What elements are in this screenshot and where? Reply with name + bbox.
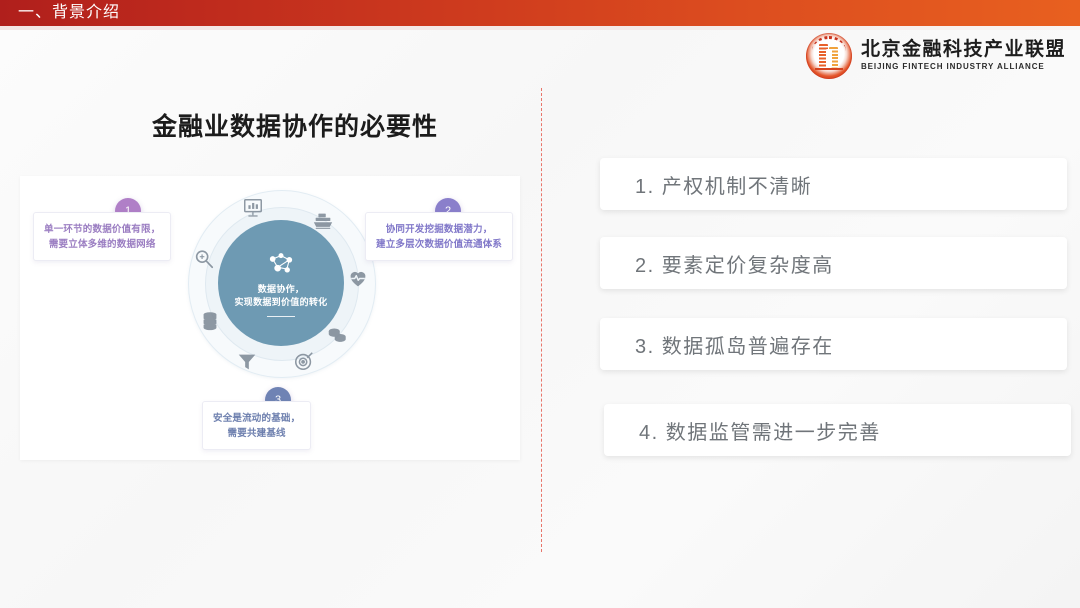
target-icon: [293, 350, 315, 372]
diagram-callout-1-line2: 需要立体多维的数据网络: [44, 237, 160, 252]
diagram-callout-3: 安全是流动的基础， 需要共建基线: [202, 401, 311, 450]
vertical-dashed-divider: [541, 88, 542, 552]
diagram-core-line2: 实现数据到价值的转化: [234, 296, 327, 309]
slide-canvas: 一、背景介绍 北京金融科技产业联盟 BEIJING FINTECH INDUST…: [0, 0, 1080, 608]
diagram-core-line1: 数据协作，: [258, 283, 305, 296]
data-network-icon: [261, 249, 301, 279]
diagram-callout-2-line1: 协同开发挖掘数据潜力，: [386, 224, 493, 235]
issue-card-4-label: 4. 数据监管需进一步完善: [639, 416, 881, 445]
issue-card-4[interactable]: 4. 数据监管需进一步完善: [604, 404, 1071, 456]
brand-name-cn: 北京金融科技产业联盟: [861, 39, 1066, 61]
diagram-core-rule: [267, 316, 295, 318]
alliance-seal-icon: [806, 33, 852, 79]
brand-name-en: BEIJING FINTECH INDUSTRY ALLIANCE: [861, 61, 1066, 73]
search-magnifier-icon: [193, 248, 215, 270]
header-bar: 一、背景介绍: [0, 0, 1080, 26]
diagram-callout-1-line1: 单一环节的数据价值有限，: [44, 224, 160, 235]
issue-card-1[interactable]: 1. 产权机制不清晰: [600, 158, 1067, 210]
ship-icon: [312, 209, 334, 231]
heart-pulse-icon: [347, 267, 369, 289]
funnel-icon: [236, 351, 258, 373]
coins-stack-icon: [326, 323, 348, 345]
issue-card-3[interactable]: 3. 数据孤岛普遍存在: [600, 318, 1067, 370]
brand-logo-text: 北京金融科技产业联盟 BEIJING FINTECH INDUSTRY ALLI…: [861, 39, 1066, 73]
issue-card-1-label: 1. 产权机制不清晰: [635, 170, 812, 199]
header-underglow: [0, 26, 1080, 30]
diagram-callout-3-line2: 需要共建基线: [213, 426, 300, 441]
brand-logo: 北京金融科技产业联盟 BEIJING FINTECH INDUSTRY ALLI…: [806, 33, 1066, 79]
diagram-callout-2: 协同开发挖掘数据潜力， 建立多层次数据价值流通体系: [365, 212, 513, 261]
diagram-callout-3-line1: 安全是流动的基础，: [213, 413, 300, 424]
diagram-callout-2-line2: 建立多层次数据价值流通体系: [376, 237, 502, 252]
presentation-chart-icon: [242, 197, 264, 219]
page-title: 一、背景介绍: [18, 2, 120, 24]
section-title: 金融业数据协作的必要性: [152, 107, 438, 143]
diagram-callout-1: 单一环节的数据价值有限， 需要立体多维的数据网络: [33, 212, 171, 261]
issue-card-2[interactable]: 2. 要素定价复杂度高: [600, 237, 1067, 289]
diagram-panel: 数据协作， 实现数据到价值的转化: [20, 176, 520, 460]
issue-card-2-label: 2. 要素定价复杂度高: [635, 249, 834, 278]
diagram-outer-ring: 数据协作， 实现数据到价值的转化: [188, 190, 376, 378]
database-icon: [199, 310, 221, 332]
issue-card-3-label: 3. 数据孤岛普遍存在: [635, 330, 834, 359]
